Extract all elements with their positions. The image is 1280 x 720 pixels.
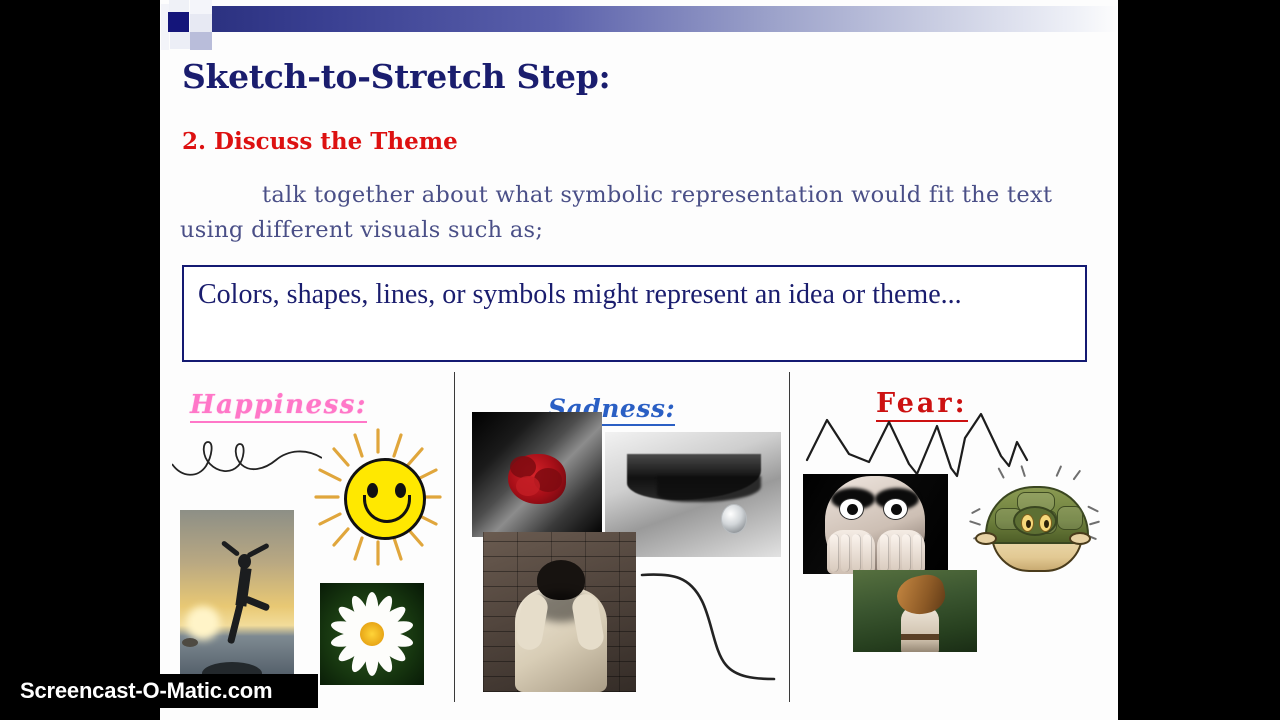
woman-windblown-hair: [894, 571, 949, 618]
covering-hand-right: [877, 530, 925, 574]
header-square-top: [169, 0, 189, 12]
header-square-periwinkle: [190, 32, 212, 50]
header-gradient-bar: [208, 6, 1118, 32]
header-square-light-c: [170, 32, 190, 49]
sadness-descending-curve-line: [640, 567, 776, 695]
column-divider-1: [454, 372, 455, 702]
turtle-eye-left: [1021, 514, 1034, 532]
rose-petal: [516, 476, 540, 496]
jumping-figure-silhouette: [214, 532, 268, 662]
header-square-light-b: [190, 14, 212, 32]
jumping-silhouette-at-sunset-photo: [180, 510, 294, 685]
rose-petal: [510, 456, 536, 478]
callout-box: Colors, shapes, lines, or symbols might …: [182, 265, 1087, 362]
covering-hand-left: [827, 530, 875, 574]
turtle-eye-right: [1039, 514, 1052, 532]
sun-smile-mouth: [363, 495, 411, 523]
red-rose-black-and-white-photo: [472, 412, 602, 537]
woman-with-windblown-hair-in-woods-photo: [853, 570, 977, 652]
column-sadness: Sadness:: [456, 372, 788, 720]
trembling-turtle-in-shell-cartoon: [969, 470, 1101, 582]
scared-eye-left: [839, 498, 864, 520]
slide-title: Sketch-to-Stretch Step:: [182, 57, 610, 96]
teardrop: [721, 504, 747, 534]
column-fear: Fear:: [791, 372, 1118, 720]
sun-face: [344, 458, 426, 540]
header-square-light-a: [190, 0, 212, 14]
column-divider-2: [789, 372, 790, 702]
turtle-face: [1013, 506, 1057, 536]
daisy-center: [360, 622, 384, 646]
turtle-foot-right: [1069, 532, 1091, 545]
presentation-slide: Sketch-to-Stretch Step: 2. Discuss the T…: [160, 0, 1118, 720]
emotion-columns: Happiness:: [160, 372, 1118, 720]
smiley-sun-drawing: [308, 422, 448, 572]
video-frame: Sketch-to-Stretch Step: 2. Discuss the T…: [0, 0, 1280, 720]
scared-pupil-right: [891, 504, 902, 515]
woman-belt: [901, 634, 939, 640]
watermark-text: Screencast-O-Matic.com: [20, 678, 272, 704]
slide-subtitle: 2. Discuss the Theme: [182, 128, 458, 155]
column-heading-happiness: Happiness:: [190, 390, 367, 423]
column-happiness: Happiness:: [168, 372, 454, 720]
slide-paragraph: talk together about what symbolic repres…: [180, 178, 1075, 248]
frightened-face-with-hands-over-mouth-photo: [803, 474, 948, 574]
screencast-watermark: Screencast-O-Matic.com: [0, 674, 318, 708]
eyelid-shadow: [657, 476, 761, 502]
hunched-person-against-brick-wall-photo: [483, 532, 636, 692]
turtle-foot-left: [975, 532, 997, 545]
white-daisy-flower-photo: [320, 583, 424, 685]
callout-text: Colors, shapes, lines, or symbols might …: [198, 274, 1071, 315]
happiness-doodle-line: [172, 434, 322, 482]
water-stone: [182, 638, 198, 647]
scared-face: [825, 476, 925, 572]
scared-eye-right: [883, 498, 908, 520]
header-square-navy: [168, 12, 189, 32]
scared-pupil-left: [847, 504, 858, 515]
